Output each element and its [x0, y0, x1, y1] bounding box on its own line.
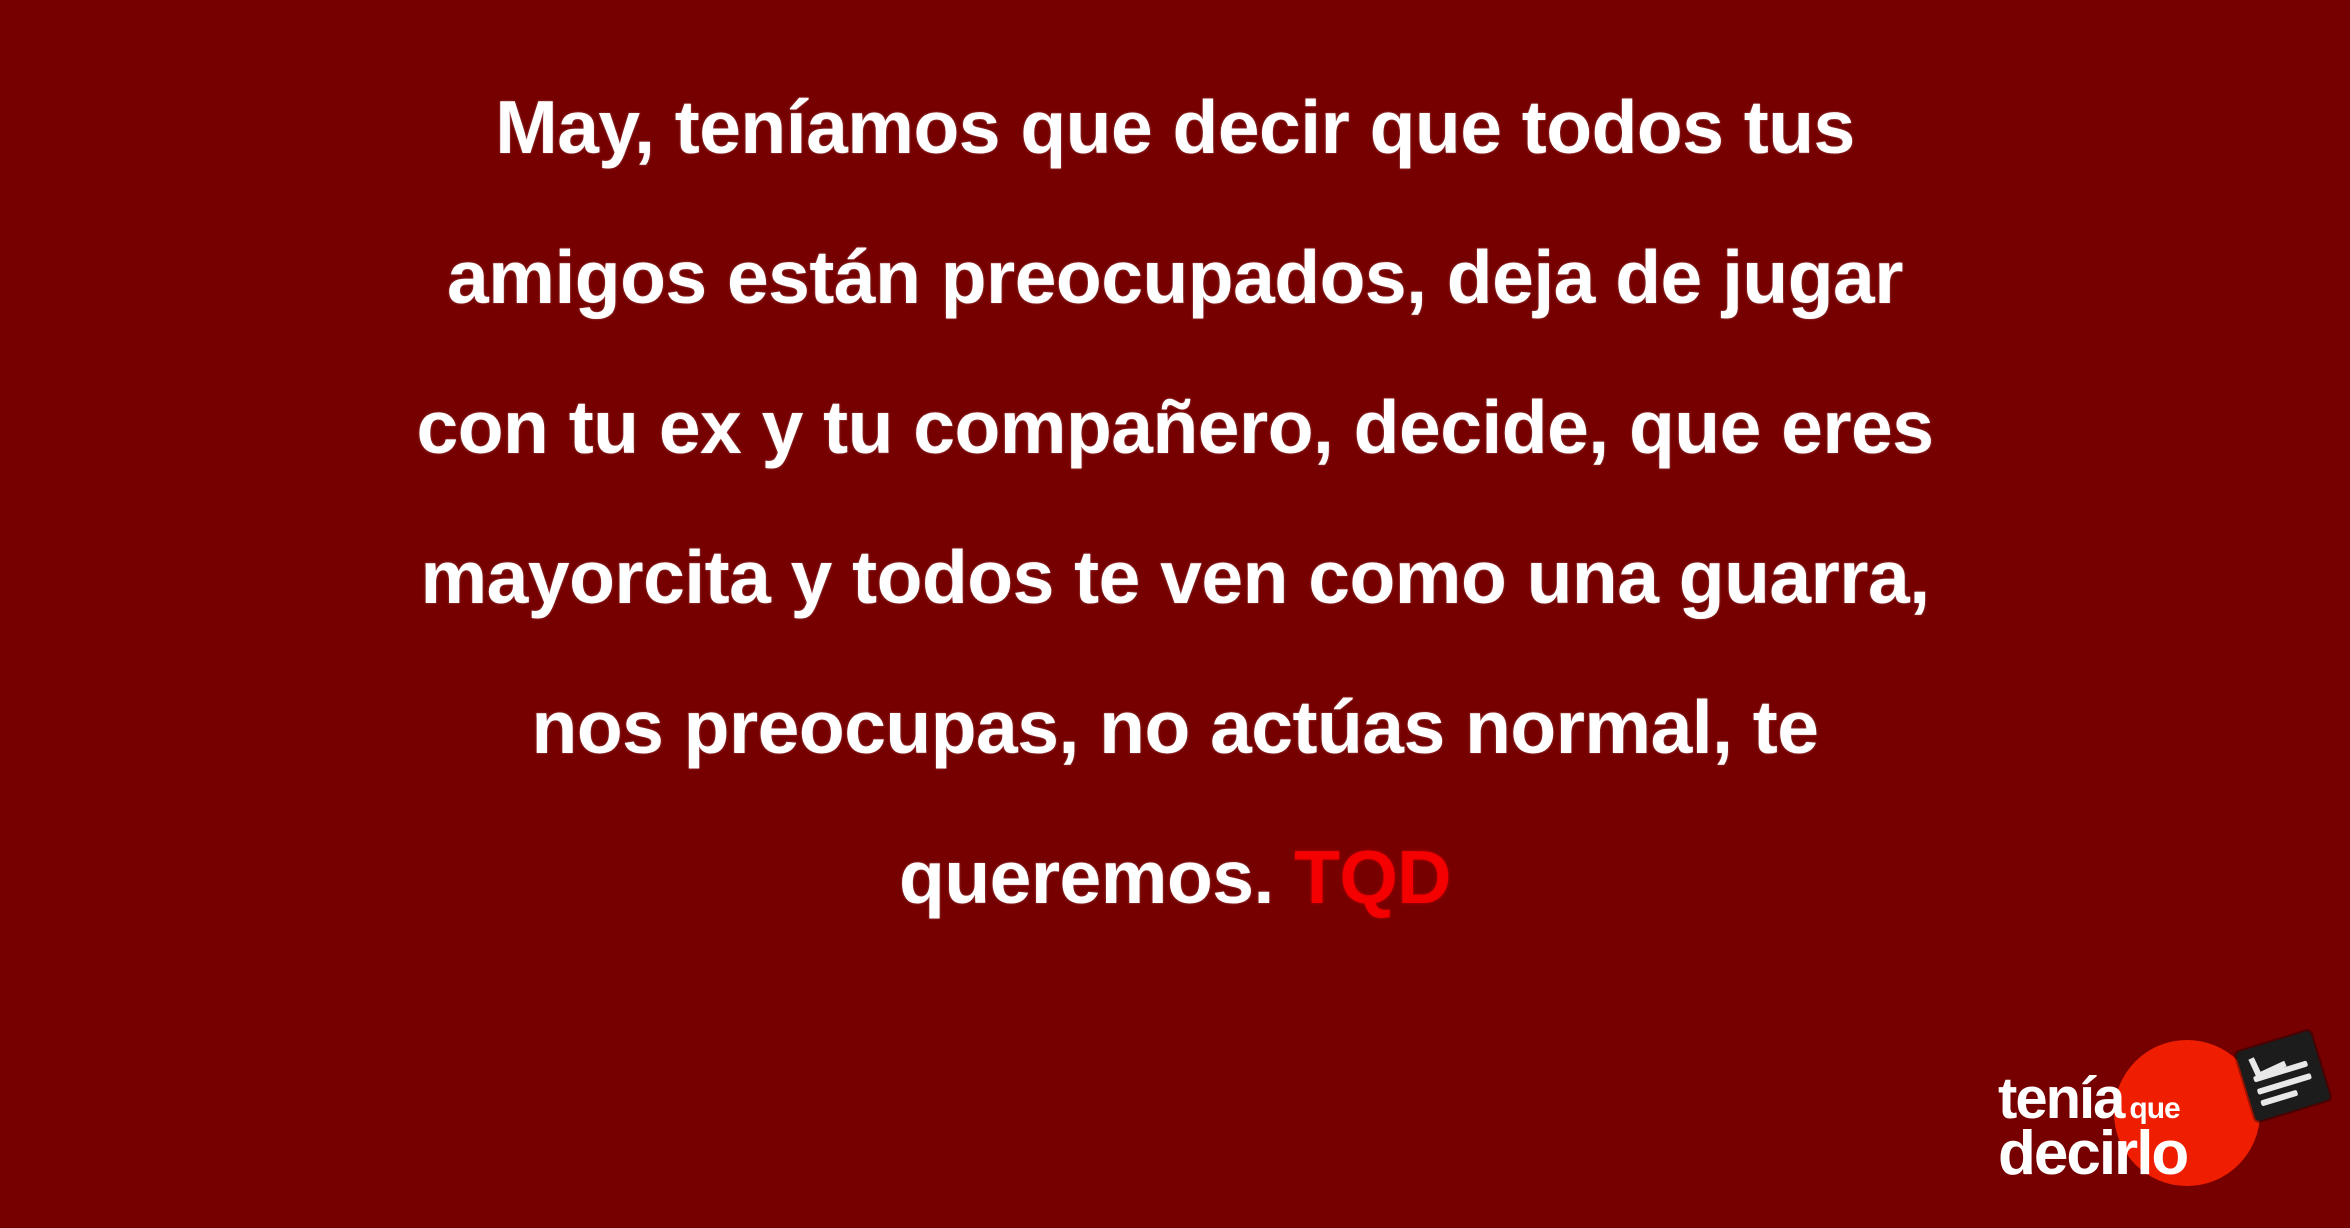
brand-wordmark: teníaque decirlo — [1998, 1072, 2258, 1182]
quote-line-6-text: queremos. — [899, 835, 1294, 919]
quote-line-3: con tu ex y tu compañero, decide, que er… — [160, 352, 2190, 502]
quote-line-6: queremos. TQD — [160, 802, 2190, 952]
tqd-tag: TQD — [1294, 835, 1451, 919]
brand-wordmark-row-bottom: decirlo — [1998, 1125, 2258, 1182]
poster-canvas: May, teníamos que decir que todos tus am… — [0, 0, 2350, 1228]
quote-block: May, teníamos que decir que todos tus am… — [0, 52, 2350, 952]
quote-line-5: nos preocupas, no actúas normal, te — [160, 652, 2190, 802]
brand-logo[interactable]: teníaque decirlo — [1998, 1036, 2328, 1216]
quote-line-1: May, teníamos que decir que todos tus — [160, 52, 2190, 202]
quote-line-2: amigos están preocupados, deja de jugar — [160, 202, 2190, 352]
quote-line-4: mayorcita y todos te ven como una guarra… — [160, 502, 2190, 652]
brand-word-decirlo: decirlo — [1998, 1119, 2187, 1188]
brand-wordmark-row-top: teníaque — [1998, 1072, 2258, 1125]
